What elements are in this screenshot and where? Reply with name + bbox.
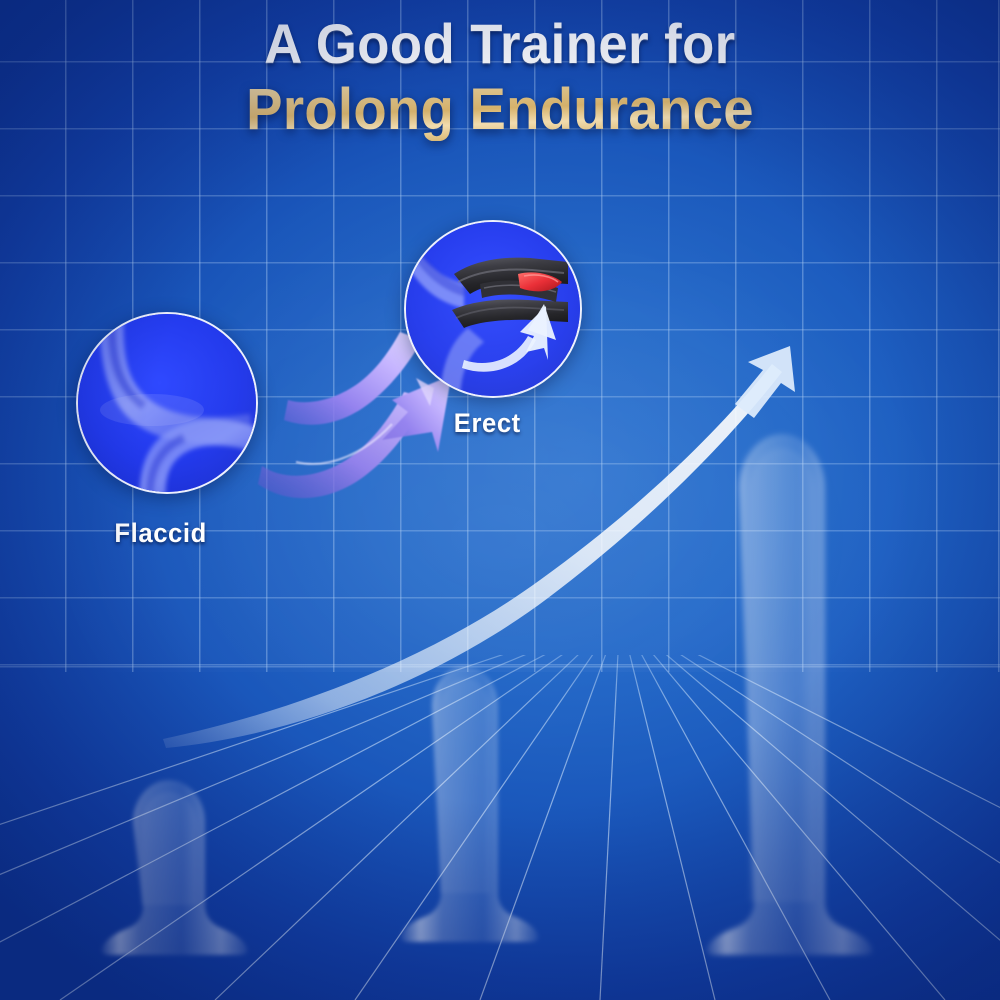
inset-flaccid-label: Flaccid (114, 518, 206, 549)
bar-stage-3 (706, 434, 872, 955)
growth-arrow-layer (0, 0, 1000, 1000)
title-line-2: Prolong Endurance (30, 79, 970, 140)
inset-erect[interactable] (404, 220, 582, 398)
device-illustration (452, 258, 568, 328)
bar-stage-1 (102, 780, 248, 955)
poster-canvas: Flaccid (0, 0, 1000, 1000)
transition-arrow-layer (0, 0, 1000, 1000)
inset-erect-label: Erect (454, 408, 521, 439)
bar-stage-2 (401, 666, 539, 942)
vignette-overlay (0, 0, 1000, 1000)
growth-arrowhead (735, 346, 795, 418)
inset-flaccid[interactable] (76, 312, 258, 494)
title-line-1: A Good Trainer for (30, 14, 970, 73)
background-grid-floor (0, 655, 1000, 1000)
heading-block: A Good Trainer for Prolong Endurance (0, 14, 1000, 141)
bar-chart-group (0, 0, 1000, 1000)
